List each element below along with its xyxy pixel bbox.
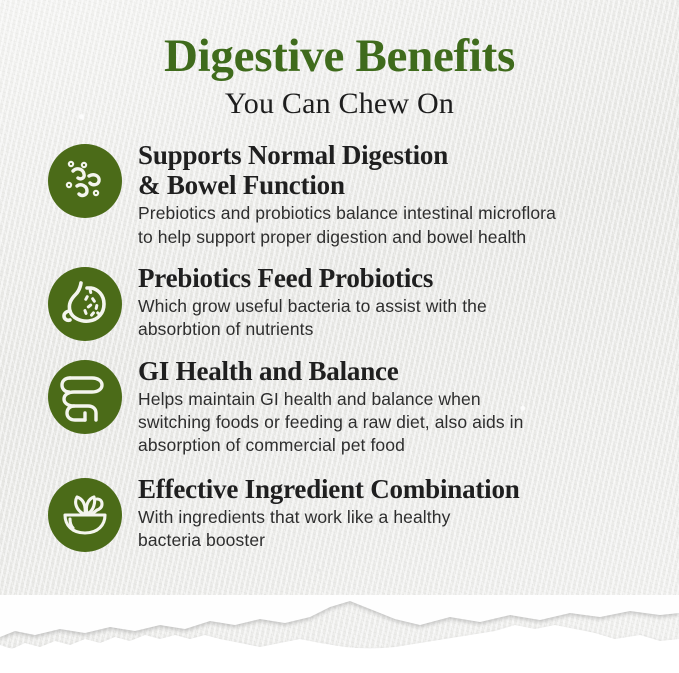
benefit-body-line-2: absorbtion of nutrients (138, 319, 313, 339)
bacteria-icon (48, 144, 122, 218)
page-title: Digestive Benefits (0, 33, 679, 81)
benefit-body: Helps maintain GI health and balance whe… (138, 388, 663, 458)
poster-content: Digestive Benefits You Can Chew On (0, 0, 679, 563)
benefit-body-line-1: Helps maintain GI health and balance whe… (138, 389, 481, 409)
benefit-body-line-1: Which grow useful bacteria to assist wit… (138, 296, 487, 316)
benefit-item-digestion: Supports Normal Digestion & Bowel Functi… (0, 140, 679, 249)
benefit-item-ingredients: Effective Ingredient Combination With in… (0, 474, 679, 553)
benefit-heading-line-2: & Bowel Function (138, 170, 345, 200)
digestive-benefits-poster: Digestive Benefits You Can Chew On (0, 0, 679, 673)
benefit-body-line-2: switching foods or feeding a raw diet, a… (138, 412, 523, 432)
intestine-icon (48, 360, 122, 434)
benefit-heading: Supports Normal Digestion & Bowel Functi… (138, 140, 663, 200)
stomach-bacteria-icon (48, 267, 122, 341)
benefit-item-prebiotics: Prebiotics Feed Probiotics Which grow us… (0, 263, 679, 342)
benefit-body: Which grow useful bacteria to assist wit… (138, 295, 663, 342)
title-block: Digestive Benefits You Can Chew On (0, 0, 679, 120)
benefit-heading: GI Health and Balance (138, 356, 663, 386)
benefit-text: Effective Ingredient Combination With in… (122, 474, 663, 553)
benefit-body: With ingredients that work like a health… (138, 506, 663, 553)
page-subtitle: You Can Chew On (0, 87, 679, 120)
benefit-item-gi-health: GI Health and Balance Helps maintain GI … (0, 356, 679, 458)
benefit-heading: Prebiotics Feed Probiotics (138, 263, 663, 293)
benefits-list: Supports Normal Digestion & Bowel Functi… (0, 140, 679, 553)
benefit-heading-line-1: Supports Normal Digestion (138, 140, 448, 170)
benefit-text: GI Health and Balance Helps maintain GI … (122, 356, 663, 458)
benefit-body-line-3: absorption of commercial pet food (138, 435, 405, 455)
benefit-body-line-1: With ingredients that work like a health… (138, 507, 450, 527)
benefit-body-line-2: bacteria booster (138, 530, 265, 550)
benefit-heading: Effective Ingredient Combination (138, 474, 663, 504)
benefit-body-line-2: to help support proper digestion and bow… (138, 227, 526, 247)
benefit-text: Prebiotics Feed Probiotics Which grow us… (122, 263, 663, 342)
benefit-body: Prebiotics and probiotics balance intest… (138, 202, 663, 249)
benefit-body-line-1: Prebiotics and probiotics balance intest… (138, 203, 556, 223)
mortar-pestle-icon (48, 478, 122, 552)
benefit-text: Supports Normal Digestion & Bowel Functi… (122, 140, 663, 249)
